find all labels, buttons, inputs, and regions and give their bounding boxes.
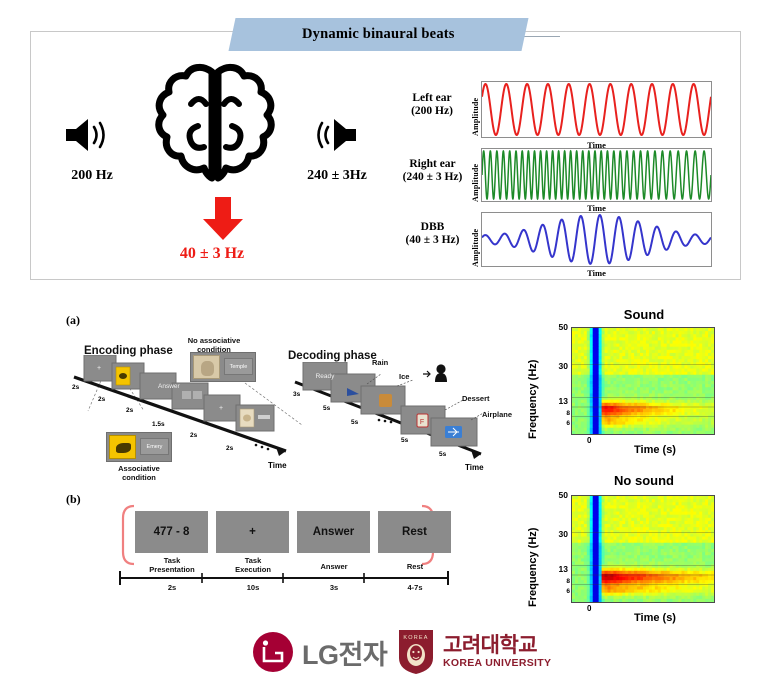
dbb-x-axis-label: Time bbox=[481, 268, 712, 278]
left-input-frequency-label: 200 Hz bbox=[50, 168, 134, 184]
spectrogram-no-sound-ytick-30: 30 bbox=[546, 529, 568, 539]
korea-university-english-name: KOREA UNIVERSITY bbox=[443, 658, 551, 669]
panel-title-banner: Dynamic binaural beats bbox=[228, 18, 528, 51]
dbb-output-frequency-label: 40 ± 3 Hz bbox=[142, 245, 282, 263]
down-arrow-icon bbox=[202, 197, 244, 241]
spectrogram-sound-title: Sound bbox=[574, 307, 714, 322]
spectrogram-no-sound-plot bbox=[571, 495, 715, 603]
task-presentation-stimulus: 477 - 8 bbox=[135, 511, 208, 553]
left-ear-waveform-label: Left ear (200 Hz) bbox=[393, 92, 471, 118]
svg-text:2s: 2s bbox=[98, 396, 106, 403]
brain-stimulus-diagram: 200 Hz 240 ± 3Hz 40 ± 3 Hz bbox=[50, 60, 380, 275]
lg-electronics-logo: LG전자 bbox=[251, 630, 387, 674]
svg-text:2s: 2s bbox=[226, 445, 234, 452]
spectrogram-sound-plot bbox=[571, 327, 715, 435]
speaker-icon bbox=[306, 115, 360, 155]
svg-text:F: F bbox=[420, 419, 424, 426]
svg-text:Time: Time bbox=[465, 463, 484, 472]
decoding-word-dessert: Dessert bbox=[462, 394, 490, 403]
spectrogram-no-sound-x-axis-label: Time (s) bbox=[600, 612, 710, 624]
svg-text:2s: 2s bbox=[190, 432, 198, 439]
dbb-waveform-plot bbox=[481, 212, 712, 267]
spectrogram-sound-ytick-8: 8 bbox=[548, 410, 570, 417]
spectrogram-no-sound-ytick-50: 50 bbox=[546, 490, 568, 500]
svg-text:5s: 5s bbox=[439, 451, 447, 458]
answer-stimulus: Answer bbox=[297, 511, 370, 553]
rest-stimulus: Rest bbox=[378, 511, 451, 553]
korea-university-korean-name: 고려대학교 bbox=[443, 635, 551, 657]
spectrogram-no-sound-ytick-8: 8 bbox=[548, 578, 570, 585]
decoding-word-airplane: Airplane bbox=[482, 410, 512, 419]
spectrogram-no-sound-xtick-0: 0 bbox=[587, 604, 591, 613]
duration-answer: 3s bbox=[293, 583, 375, 592]
task-execution-stimulus: + bbox=[216, 511, 289, 553]
korea-university-logo: KOREA 고려대학교 KOREA UNIVERSITY bbox=[396, 628, 551, 676]
spectrogram-sound-ytick-30: 30 bbox=[546, 361, 568, 371]
spectrogram-no-sound-y-axis-label: Frequency (Hz) bbox=[527, 495, 539, 607]
lg-electronics-text: LG전자 bbox=[302, 633, 387, 672]
decoding-timeline-graphic: Ready F 3s 5s 5s 5s 5s Time bbox=[285, 362, 510, 472]
right-input-frequency-label: 240 ± 3Hz bbox=[288, 168, 386, 184]
svg-text:2s: 2s bbox=[72, 384, 80, 391]
spectrogram-no-sound-ytick-6: 6 bbox=[548, 588, 570, 595]
dbb-waveform-label: DBB (40 ± 3 Hz) bbox=[385, 221, 480, 247]
speaker-icon bbox=[62, 115, 116, 155]
left-ear-y-axis-label: Amplitude bbox=[471, 84, 480, 136]
svg-text:3s: 3s bbox=[293, 391, 301, 398]
svg-text:KOREA: KOREA bbox=[403, 635, 428, 641]
svg-text:2s: 2s bbox=[126, 407, 134, 414]
no-associative-word: Temple bbox=[224, 358, 253, 375]
associative-image bbox=[109, 435, 136, 459]
svg-text:Answer: Answer bbox=[158, 383, 181, 390]
decoding-word-rain: Rain bbox=[372, 358, 388, 367]
associative-condition-caption: Associative condition bbox=[96, 464, 182, 482]
svg-text:5s: 5s bbox=[323, 405, 331, 412]
spectrogram-sound-ytick-13: 13 bbox=[546, 396, 568, 406]
spectrogram-sound-ytick-50: 50 bbox=[546, 322, 568, 332]
svg-text:5s: 5s bbox=[401, 437, 409, 444]
dbb-y-axis-label: Amplitude bbox=[471, 215, 480, 267]
right-ear-waveform-label: Right ear (240 ± 3 Hz) bbox=[385, 158, 480, 184]
svg-text:Ready: Ready bbox=[316, 373, 336, 380]
decoding-word-ice: Ice bbox=[399, 372, 409, 381]
decoding-phase-title: Decoding phase bbox=[288, 350, 377, 362]
korea-university-text: 고려대학교 KOREA UNIVERSITY bbox=[443, 635, 551, 668]
logo-row: LG전자 KOREA 고려대학교 KOREA UNIVERSITY bbox=[0, 628, 771, 684]
svg-text:5s: 5s bbox=[351, 419, 359, 426]
svg-text:+: + bbox=[97, 365, 101, 372]
panel-a-label: (a) bbox=[66, 313, 80, 328]
svg-text:1.5s: 1.5s bbox=[152, 421, 165, 428]
spectrogram-sound-y-axis-label: Frequency (Hz) bbox=[527, 327, 539, 439]
spectrogram-no-sound-title: No sound bbox=[574, 473, 714, 488]
panel-b-label: (b) bbox=[66, 492, 81, 507]
brain-icon bbox=[148, 60, 282, 190]
spectrogram-no-sound-ytick-13: 13 bbox=[546, 564, 568, 574]
right-ear-y-axis-label: Amplitude bbox=[471, 150, 480, 202]
korea-university-crest-icon: KOREA bbox=[396, 628, 436, 676]
spectrogram-sound-x-axis-label: Time (s) bbox=[600, 444, 710, 456]
duration-task-execution: 10s bbox=[212, 583, 294, 592]
lg-circle-icon bbox=[251, 630, 295, 674]
right-ear-waveform-plot bbox=[481, 148, 712, 202]
svg-text:+: + bbox=[219, 405, 223, 412]
duration-rest: 4-7s bbox=[374, 583, 456, 592]
no-associative-image bbox=[193, 355, 220, 379]
spectrogram-sound-xtick-0: 0 bbox=[587, 436, 591, 445]
left-ear-waveform-plot bbox=[481, 81, 712, 138]
duration-task-presentation: 2s bbox=[131, 583, 213, 592]
banner-tail bbox=[520, 36, 560, 37]
associative-word: Emery bbox=[140, 438, 169, 455]
spectrogram-sound-ytick-6: 6 bbox=[548, 420, 570, 427]
panel-title-text: Dynamic binaural beats bbox=[302, 26, 455, 43]
